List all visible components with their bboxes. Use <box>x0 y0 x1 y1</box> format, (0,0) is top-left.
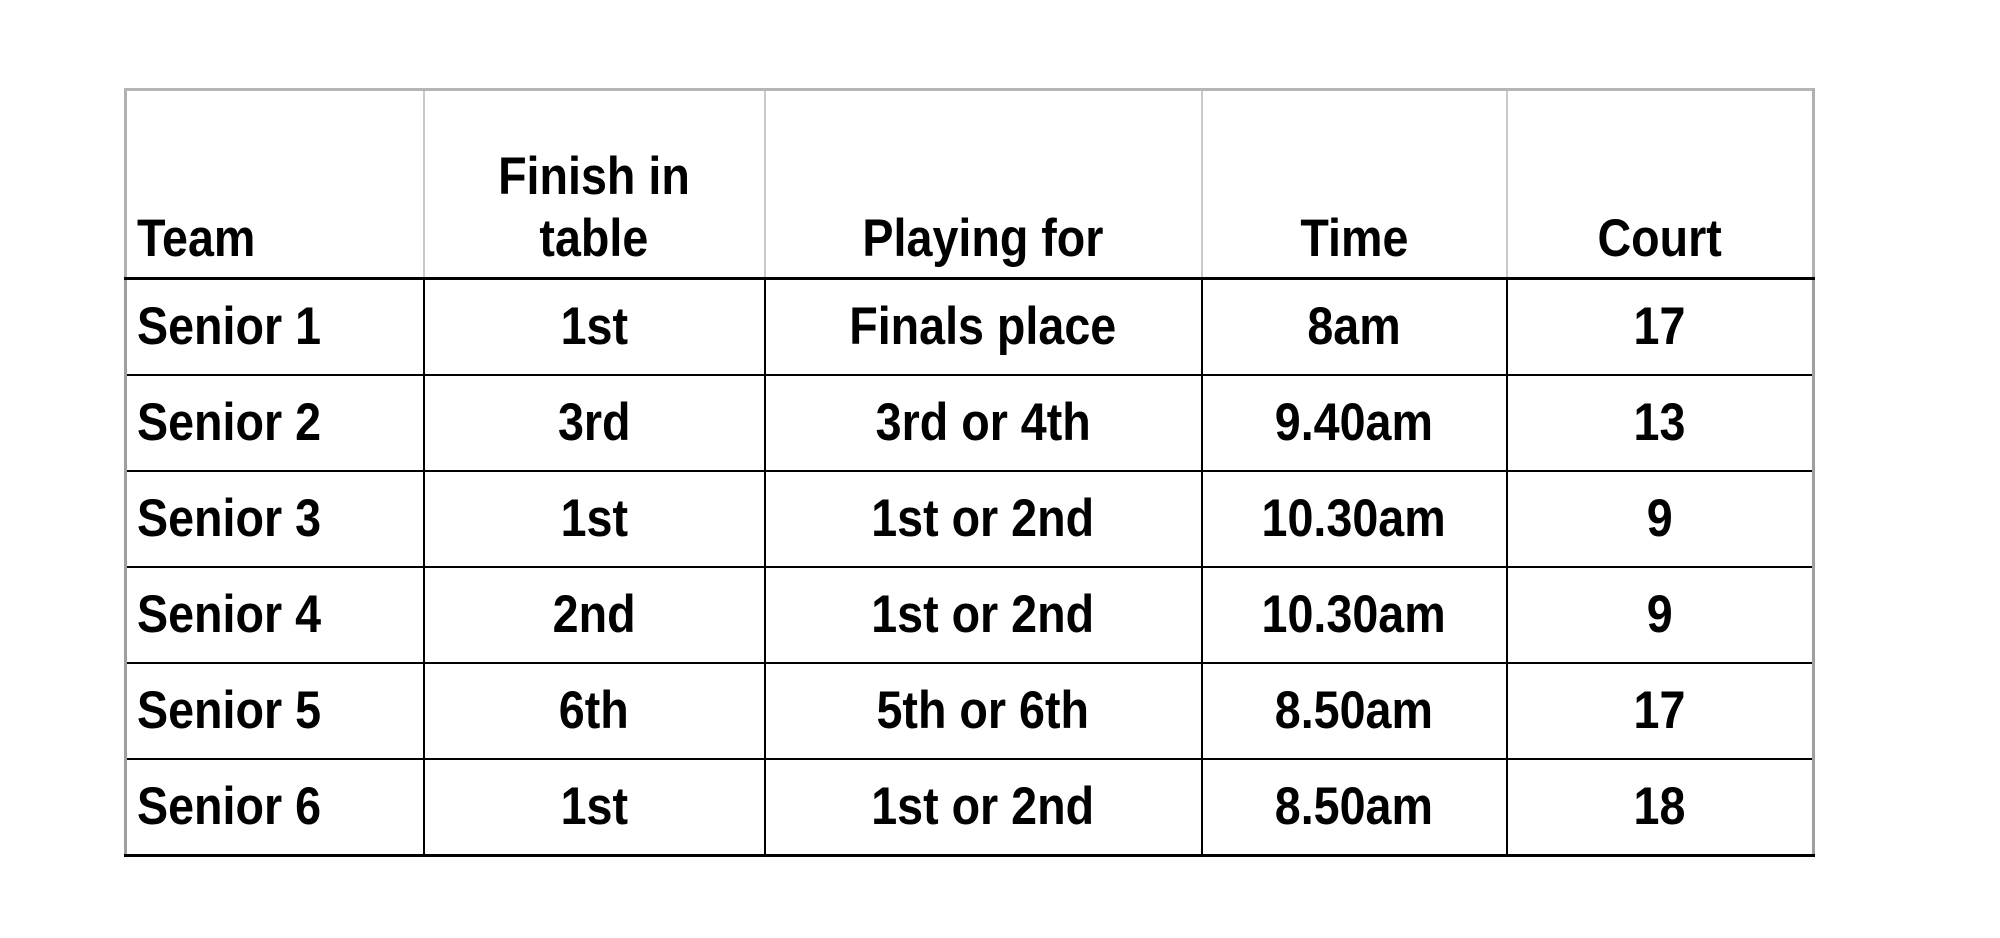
cell-time: 8am <box>1202 279 1507 376</box>
cell-finish: 6th <box>424 663 765 759</box>
column-header-finish-line1: Finish in <box>498 146 690 209</box>
cell-playing-text: 1st or 2nd <box>872 776 1095 839</box>
cell-finish-text: 1st <box>560 296 627 359</box>
cell-finish-text: 6th <box>559 680 629 743</box>
cell-team-text: Senior 1 <box>137 296 321 359</box>
column-header-court: Court <box>1507 90 1814 279</box>
cell-finish: 3rd <box>424 375 765 471</box>
cell-time: 8.50am <box>1202 663 1507 759</box>
schedule-table-container: Team Finish in table Playing for <box>124 88 1812 857</box>
cell-team: Senior 1 <box>126 279 424 376</box>
cell-time-text: 9.40am <box>1275 392 1433 455</box>
cell-court-text: 9 <box>1647 584 1673 647</box>
cell-playing-text: Finals place <box>850 296 1117 359</box>
cell-playing: 1st or 2nd <box>765 759 1202 856</box>
cell-finish-text: 2nd <box>553 584 636 647</box>
cell-playing: 1st or 2nd <box>765 567 1202 663</box>
cell-team-text: Senior 4 <box>137 584 321 647</box>
cell-team-text: Senior 6 <box>137 776 321 839</box>
cell-time-text: 8am <box>1307 296 1400 359</box>
column-header-playing-for: Playing for <box>765 90 1202 279</box>
cell-time-text: 10.30am <box>1262 584 1446 647</box>
cell-playing-text: 1st or 2nd <box>872 584 1095 647</box>
table-header: Team Finish in table Playing for <box>126 90 1814 279</box>
table-row: Senior 5 6th 5th or 6th 8.50am 17 <box>126 663 1814 759</box>
column-header-time-label: Time <box>1300 208 1408 271</box>
cell-team-text: Senior 3 <box>137 488 321 551</box>
schedule-table: Team Finish in table Playing for <box>124 88 1815 857</box>
cell-court-text: 18 <box>1634 776 1686 839</box>
cell-court: 17 <box>1507 663 1814 759</box>
page-canvas: Team Finish in table Playing for <box>0 0 2000 938</box>
cell-playing-text: 3rd or 4th <box>875 392 1090 455</box>
cell-court-text: 9 <box>1647 488 1673 551</box>
cell-finish: 1st <box>424 279 765 376</box>
table-row: Senior 2 3rd 3rd or 4th 9.40am 13 <box>126 375 1814 471</box>
cell-time-text: 10.30am <box>1262 488 1446 551</box>
table-row: Senior 1 1st Finals place 8am 17 <box>126 279 1814 376</box>
cell-finish-text: 3rd <box>558 392 631 455</box>
cell-court: 9 <box>1507 567 1814 663</box>
table-row: Senior 4 2nd 1st or 2nd 10.30am 9 <box>126 567 1814 663</box>
cell-team: Senior 2 <box>126 375 424 471</box>
cell-playing: 1st or 2nd <box>765 471 1202 567</box>
cell-team-text: Senior 2 <box>137 392 321 455</box>
cell-finish: 1st <box>424 759 765 856</box>
cell-court: 17 <box>1507 279 1814 376</box>
cell-playing: 3rd or 4th <box>765 375 1202 471</box>
cell-court: 13 <box>1507 375 1814 471</box>
cell-time-text: 8.50am <box>1275 776 1433 839</box>
cell-playing: 5th or 6th <box>765 663 1202 759</box>
column-header-finish-in-table: Finish in table <box>424 90 765 279</box>
column-header-team: Team <box>126 90 424 279</box>
cell-court: 9 <box>1507 471 1814 567</box>
cell-finish: 2nd <box>424 567 765 663</box>
column-header-team-label: Team <box>137 208 255 271</box>
cell-time-text: 8.50am <box>1275 680 1433 743</box>
cell-finish: 1st <box>424 471 765 567</box>
column-header-court-label: Court <box>1598 208 1722 271</box>
cell-finish-text: 1st <box>560 776 627 839</box>
table-row: Senior 6 1st 1st or 2nd 8.50am 18 <box>126 759 1814 856</box>
column-header-playing-label: Playing for <box>862 208 1103 271</box>
cell-court: 18 <box>1507 759 1814 856</box>
cell-court-text: 17 <box>1634 680 1686 743</box>
cell-court-text: 13 <box>1634 392 1686 455</box>
table-row: Senior 3 1st 1st or 2nd 10.30am 9 <box>126 471 1814 567</box>
cell-time: 10.30am <box>1202 471 1507 567</box>
cell-team: Senior 5 <box>126 663 424 759</box>
cell-team: Senior 3 <box>126 471 424 567</box>
cell-time: 9.40am <box>1202 375 1507 471</box>
cell-court-text: 17 <box>1634 296 1686 359</box>
cell-playing-text: 1st or 2nd <box>872 488 1095 551</box>
header-row: Team Finish in table Playing for <box>126 90 1814 279</box>
column-header-time: Time <box>1202 90 1507 279</box>
cell-playing-text: 5th or 6th <box>877 680 1089 743</box>
cell-playing: Finals place <box>765 279 1202 376</box>
column-header-finish-line2: table <box>540 208 649 271</box>
cell-time: 8.50am <box>1202 759 1507 856</box>
cell-finish-text: 1st <box>560 488 627 551</box>
cell-team: Senior 4 <box>126 567 424 663</box>
table-body: Senior 1 1st Finals place 8am 17 Senior … <box>126 279 1814 856</box>
cell-team-text: Senior 5 <box>137 680 321 743</box>
cell-team: Senior 6 <box>126 759 424 856</box>
cell-time: 10.30am <box>1202 567 1507 663</box>
